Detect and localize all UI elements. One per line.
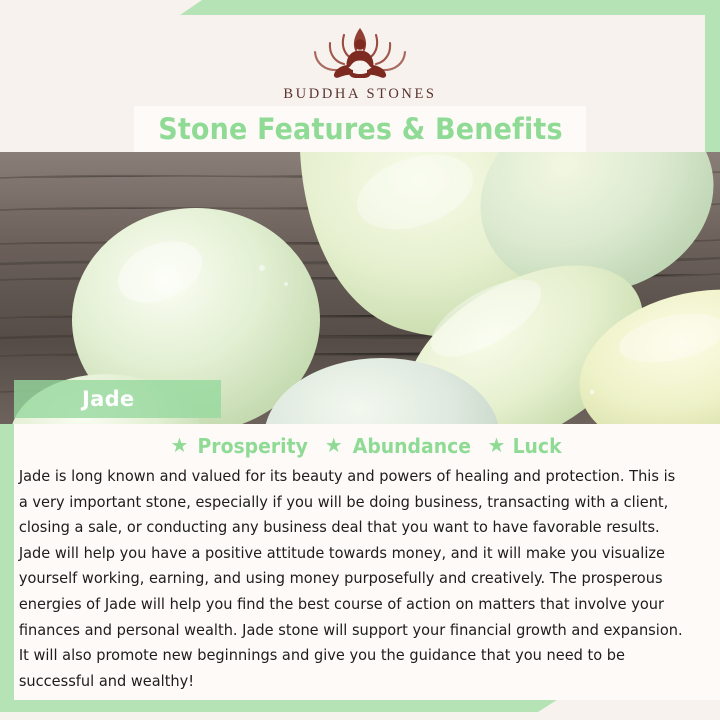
description-card: ★ Prosperity ★ Abundance ★ Luck Jade is … [14,424,720,700]
stone-info-card: BUDDHA STONES Stone Features & Benefits [0,0,720,720]
description-text: Jade is long known and valued for its be… [14,462,695,694]
benefit-item-luck: ★ Luck [487,434,563,458]
benefit-label: Abundance [352,434,470,458]
title-banner: Stone Features & Benefits [134,106,586,152]
brand-logo: BUDDHA STONES [0,16,720,108]
brand-name: BUDDHA STONES [283,86,436,103]
stone-name-band: Jade [14,380,221,418]
page-title: Stone Features & Benefits [158,112,563,146]
decorative-band-left [0,378,14,700]
benefit-item-abundance: ★ Abundance [325,434,475,458]
lotus-meditation-icon [294,21,426,83]
star-icon: ★ [170,436,188,456]
decorative-band-bottom [0,698,560,712]
benefit-label: Prosperity [198,434,308,458]
star-icon: ★ [487,436,505,456]
star-icon: ★ [325,436,343,456]
decorative-band-top [180,0,720,15]
stone-name-label: Jade [82,387,134,411]
benefit-item-prosperity: ★ Prosperity [170,434,311,458]
benefit-label: Luck [513,434,562,458]
benefits-row: ★ Prosperity ★ Abundance ★ Luck [14,424,720,462]
